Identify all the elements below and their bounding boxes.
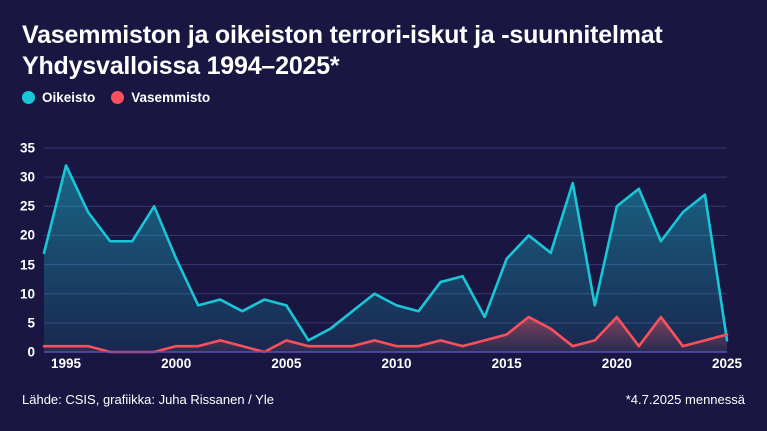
legend-item-oikeisto[interactable]: Oikeisto	[22, 90, 95, 105]
x-tick-label: 2005	[271, 356, 301, 371]
chart-card: Vasemmiston ja oikeiston terrori-iskut j…	[0, 0, 767, 431]
chart-legend: Oikeisto Vasemmisto	[22, 90, 210, 105]
title-line-1: Vasemmiston ja oikeiston terrori-iskut j…	[22, 20, 742, 51]
x-tick-label: 2010	[381, 356, 411, 371]
legend-dot-icon	[111, 91, 124, 104]
legend-label-vasemmisto: Vasemmisto	[131, 90, 210, 105]
x-tick-label: 2000	[161, 356, 191, 371]
chart-footer: Lähde: CSIS, grafiikka: Juha Rissanen / …	[0, 384, 767, 431]
x-axis-labels: 1995200020052010201520202025	[0, 356, 767, 380]
title-line-2: Yhdysvalloissa 1994–2025*	[22, 51, 742, 82]
legend-label-oikeisto: Oikeisto	[42, 90, 95, 105]
page-title: Vasemmiston ja oikeiston terrori-iskut j…	[22, 20, 742, 81]
legend-item-vasemmisto[interactable]: Vasemmisto	[111, 90, 210, 105]
x-tick-label: 2025	[712, 356, 742, 371]
x-tick-label: 2020	[602, 356, 632, 371]
source-text: Lähde: CSIS, grafiikka: Juha Rissanen / …	[22, 392, 274, 407]
x-tick-label: 2015	[492, 356, 522, 371]
x-tick-label: 1995	[51, 356, 81, 371]
chart-plot-area	[0, 125, 767, 370]
legend-dot-icon	[22, 91, 35, 104]
footnote-text: *4.7.2025 mennessä	[626, 392, 745, 407]
